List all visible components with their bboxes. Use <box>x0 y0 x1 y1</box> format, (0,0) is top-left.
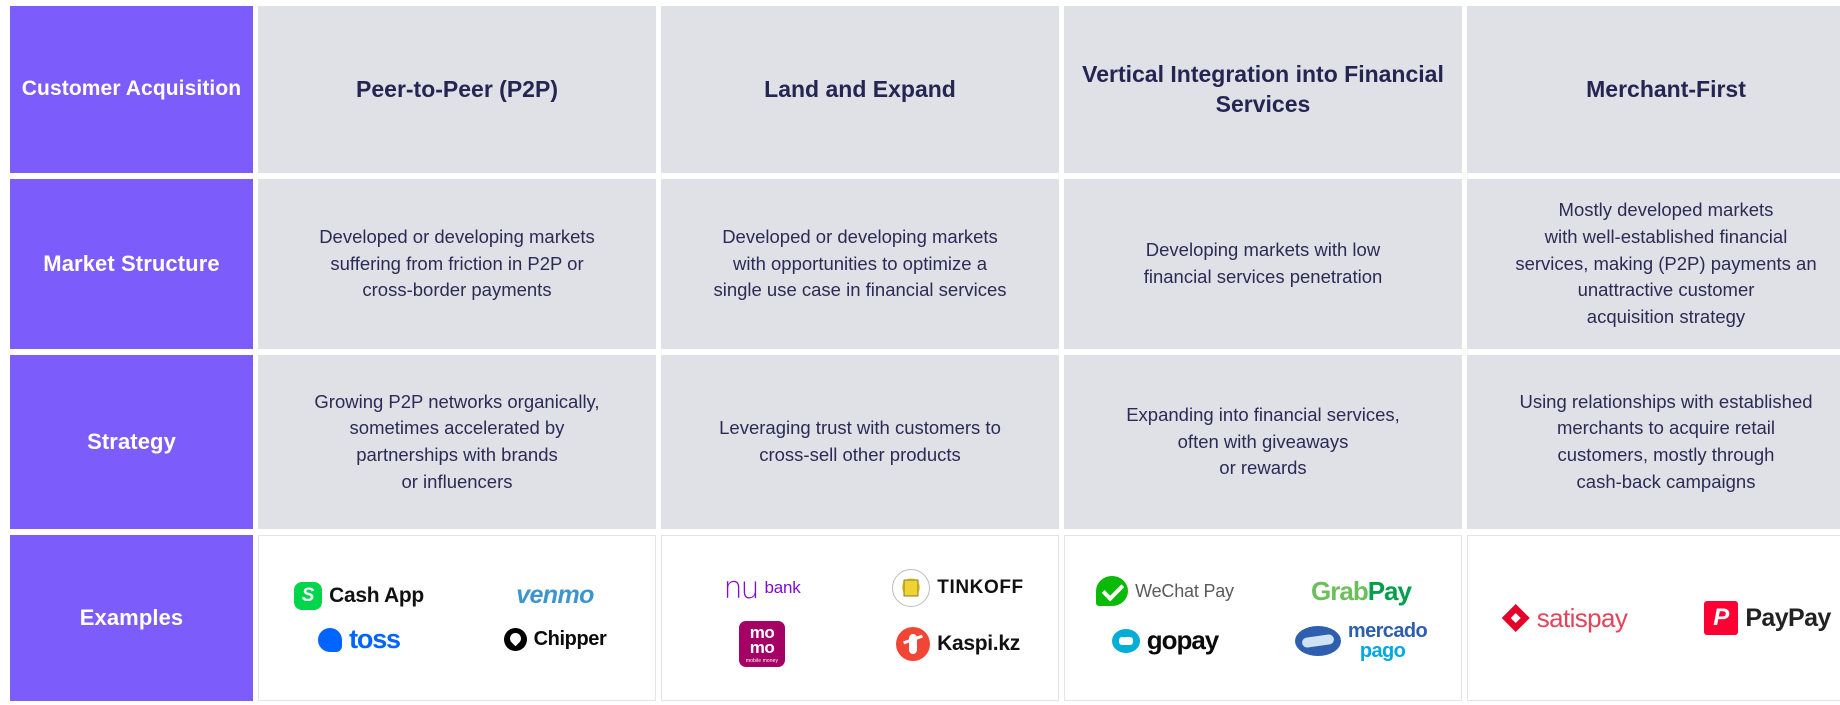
cash-app-label: Cash App <box>329 584 424 608</box>
cell-market-structure-merchant-first: Mostly developed markets with well-estab… <box>1467 179 1840 349</box>
logo-cash-app: S Cash App <box>294 582 424 610</box>
mercado-pago-label-part2: pago <box>1360 641 1427 661</box>
grabpay-label-part2: Pay <box>1368 576 1411 606</box>
cell-market-structure-vertical-integration: Developing markets with low financial se… <box>1064 179 1462 349</box>
gopay-icon <box>1112 629 1140 653</box>
column-header-p2p: Peer-to-Peer (P2P) <box>258 6 656 173</box>
logo-tinkoff: TINKOFF <box>892 569 1024 607</box>
tinkoff-label: TINKOFF <box>937 577 1024 599</box>
row-header-market-structure: Market Structure <box>10 179 253 349</box>
matrix-title: Customer Acquisition <box>22 76 241 102</box>
row-header-strategy: Strategy <box>10 355 253 529</box>
momo-icon: mo mo mobile money <box>739 621 785 667</box>
cash-app-icon: S <box>294 582 322 610</box>
column-header-vertical-integration-label: Vertical Integration into Financial Serv… <box>1080 60 1446 120</box>
cell-examples-merchant-first: satispay P PayPay <box>1467 535 1840 701</box>
wechat-pay-icon <box>1096 576 1128 606</box>
satispay-label: satispay <box>1537 603 1628 634</box>
kaspi-icon <box>896 627 930 661</box>
column-header-merchant-first-label: Merchant-First <box>1586 75 1746 105</box>
venmo-label: venmo <box>516 581 594 610</box>
cell-examples-p2p: S Cash App venmo toss Chipper <box>258 535 656 701</box>
logo-mercado-pago: mercado pago <box>1295 621 1427 661</box>
logo-kaspi-kz: Kaspi.kz <box>896 627 1020 661</box>
logo-wechat-pay: WeChat Pay <box>1096 576 1234 606</box>
satispay-icon <box>1502 604 1530 632</box>
nubank-icon: nu <box>723 571 757 606</box>
cell-strategy-land-and-expand: Leveraging trust with customers to cross… <box>661 355 1059 529</box>
cell-market-structure-land-and-expand: Developed or developing markets with opp… <box>661 179 1059 349</box>
matrix-title-cell: Customer Acquisition <box>10 6 253 173</box>
logo-nubank: nu bank <box>723 571 800 606</box>
cell-strategy-merchant-first: Using relationships with established mer… <box>1467 355 1840 529</box>
paypay-label: PayPay <box>1745 604 1830 633</box>
toss-label: toss <box>349 624 400 655</box>
chipper-label: Chipper <box>534 628 607 651</box>
row-header-examples: Examples <box>10 535 253 701</box>
cell-examples-land-and-expand: nu bank TINKOFF mo mo mobile money Kaspi… <box>661 535 1059 701</box>
paypay-icon: P <box>1704 601 1738 635</box>
cell-examples-vertical-integration: WeChat Pay GrabPay gopay mercado pago <box>1064 535 1462 701</box>
mercado-pago-icon <box>1295 626 1341 656</box>
logo-momo: mo mo mobile money <box>739 621 785 667</box>
nubank-label: bank <box>764 578 800 598</box>
grabpay-label-part1: Grab <box>1311 576 1368 606</box>
chipper-icon <box>504 628 527 651</box>
cell-market-structure-p2p: Developed or developing markets sufferin… <box>258 179 656 349</box>
column-header-land-and-expand-label: Land and Expand <box>764 75 956 105</box>
logo-grabpay: GrabPay <box>1311 576 1411 607</box>
column-header-vertical-integration: Vertical Integration into Financial Serv… <box>1064 6 1462 173</box>
mercado-pago-label: mercado pago <box>1348 621 1427 661</box>
momo-tagline: mobile money <box>746 659 778 664</box>
logo-paypay: P PayPay <box>1704 601 1830 635</box>
kaspi-label: Kaspi.kz <box>937 632 1020 656</box>
logo-venmo: venmo <box>516 581 594 610</box>
row-header-market-structure-label: Market Structure <box>43 250 219 278</box>
logo-satispay: satispay <box>1502 603 1628 634</box>
mercado-pago-label-part1: mercado <box>1348 621 1427 641</box>
tinkoff-icon <box>892 569 930 607</box>
row-header-examples-label: Examples <box>80 604 184 632</box>
column-header-p2p-label: Peer-to-Peer (P2P) <box>356 75 558 105</box>
cell-strategy-p2p: Growing P2P networks organically, someti… <box>258 355 656 529</box>
logo-toss: toss <box>318 624 400 655</box>
column-header-land-and-expand: Land and Expand <box>661 6 1059 173</box>
logo-gopay: gopay <box>1112 625 1219 656</box>
wechat-pay-label: WeChat Pay <box>1135 581 1234 602</box>
cell-strategy-vertical-integration: Expanding into financial services, often… <box>1064 355 1462 529</box>
logo-chipper: Chipper <box>504 628 607 651</box>
column-header-merchant-first: Merchant-First <box>1467 6 1840 173</box>
grabpay-label: GrabPay <box>1311 576 1411 607</box>
momo-mark-line2: mo <box>750 640 775 656</box>
gopay-label: gopay <box>1147 625 1219 656</box>
customer-acquisition-matrix: Customer Acquisition Peer-to-Peer (P2P) … <box>0 0 1840 705</box>
row-header-strategy-label: Strategy <box>87 428 176 456</box>
toss-icon <box>318 628 342 652</box>
